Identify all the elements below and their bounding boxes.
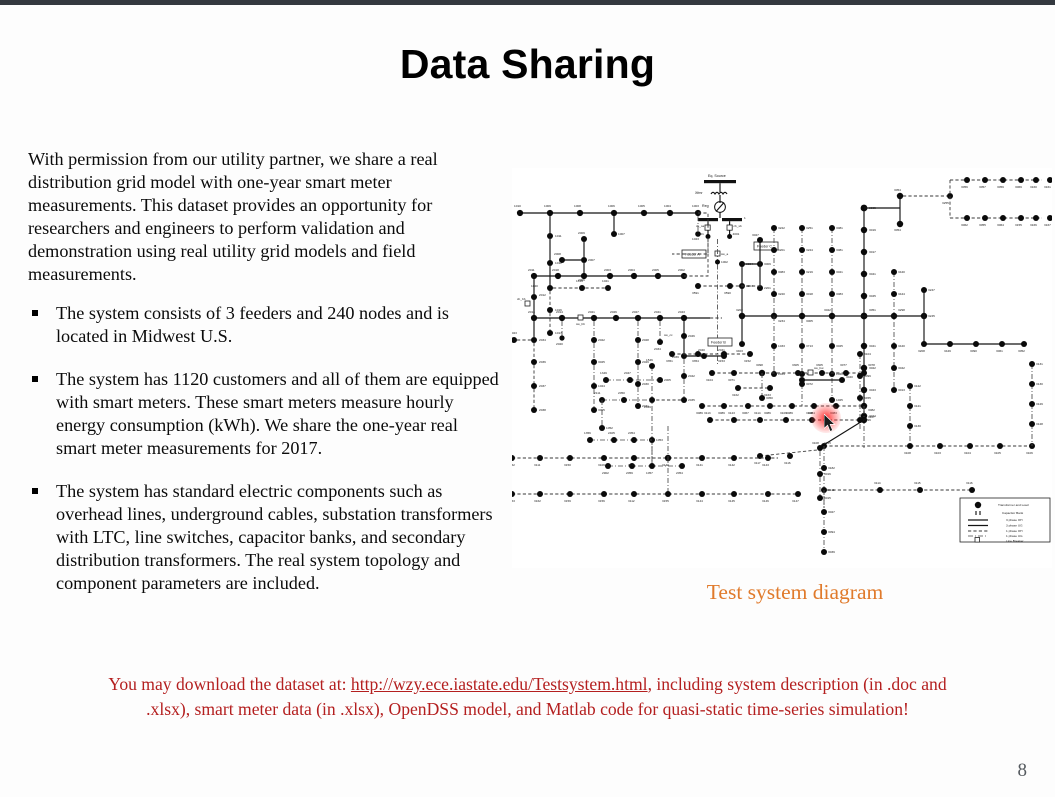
- svg-text:3016: 3016: [824, 472, 831, 476]
- svg-text:3251: 3251: [806, 226, 813, 230]
- svg-text:3094: 3094: [828, 530, 835, 534]
- svg-text:3072: 3072: [806, 382, 813, 386]
- svg-text:1033: 1033: [778, 344, 785, 348]
- svg-text:3025: 3025: [598, 360, 605, 364]
- svg-text:1010: 1010: [514, 204, 521, 208]
- svg-text:3201: 3201: [778, 248, 785, 252]
- svg-text:1025: 1025: [836, 398, 843, 402]
- svg-text:3108: 3108: [812, 441, 819, 445]
- svg-text:3150: 3150: [564, 463, 571, 467]
- svg-text:3105: 3105: [994, 451, 1001, 455]
- svg-text:3106: 3106: [1026, 451, 1033, 455]
- dataset-url-link[interactable]: http://wzy.ece.iastate.edu/Testsystem.ht…: [351, 674, 648, 694]
- svg-text:3005: 3005: [806, 319, 813, 323]
- svg-text:3090: 3090: [970, 349, 977, 353]
- svg-text:3162: 3162: [534, 499, 541, 503]
- svg-text:Line Breaker: Line Breaker: [1006, 539, 1024, 543]
- svg-text:3112: 3112: [628, 499, 635, 503]
- svg-text:3108: 3108: [904, 451, 911, 455]
- svg-text:3166: 3166: [1030, 223, 1037, 227]
- download-note: You may download the dataset at: http://…: [100, 672, 955, 722]
- svg-text:2018: 2018: [552, 268, 559, 272]
- svg-text:3019: 3019: [869, 228, 876, 232]
- svg-text:2002: 2002: [678, 268, 685, 272]
- svg-text:2028: 2028: [642, 338, 649, 342]
- svg-text:3234: 3234: [778, 319, 785, 323]
- svg-text:3027: 3027: [752, 233, 759, 237]
- svg-text:1057: 1057: [646, 471, 653, 475]
- svg-text:3043: 3043: [869, 388, 876, 392]
- svg-text:cb_sa: cb_sa: [696, 224, 705, 228]
- svg-text:Reg: Reg: [702, 204, 709, 208]
- svg-text:3022: 3022: [824, 308, 831, 312]
- svg-text:Xfmr: Xfmr: [695, 191, 703, 195]
- svg-text:2042: 2042: [688, 374, 695, 378]
- svg-text:3040: 3040: [846, 375, 853, 379]
- svg-text:3009: 3009: [764, 262, 771, 266]
- svg-text:1017: 1017: [555, 331, 562, 335]
- svg-text:3 phase OH: 3 phase OH: [1006, 518, 1023, 522]
- svg-text:3089: 3089: [786, 411, 793, 415]
- svg-text:2049: 2049: [644, 405, 651, 409]
- slide-canvas: Data Sharing With permission from our ut…: [0, 0, 1055, 797]
- list-item: The system has 1120 customers and all of…: [28, 368, 502, 460]
- svg-text:3162: 3162: [732, 393, 739, 397]
- svg-text:2004: 2004: [628, 268, 635, 272]
- svg-text:3129: 3129: [1036, 402, 1043, 406]
- svg-text:2006: 2006: [578, 278, 585, 282]
- svg-text:2041: 2041: [654, 310, 661, 314]
- svg-text:cb_bb: cb_bb: [517, 297, 526, 301]
- svg-text:cb_sb: cb_sb: [734, 224, 743, 228]
- svg-text:3059: 3059: [997, 185, 1004, 189]
- list-item-text: The system has standard electric compone…: [56, 481, 493, 593]
- svg-text:2038: 2038: [539, 408, 546, 412]
- svg-text:sw_bw: sw_bw: [814, 366, 824, 370]
- svg-text:2005: 2005: [652, 268, 659, 272]
- svg-text:2005: 2005: [664, 378, 671, 382]
- svg-text:3021: 3021: [836, 270, 843, 274]
- svg-text:3042: 3042: [898, 366, 905, 370]
- svg-text:3148: 3148: [628, 463, 635, 467]
- svg-text:3440: 3440: [898, 344, 905, 348]
- svg-text:3255: 3255: [942, 201, 949, 205]
- svg-text:1020: 1020: [531, 284, 538, 288]
- svg-text:1009: 1009: [544, 204, 551, 208]
- svg-text:3354: 3354: [692, 359, 699, 363]
- svg-text:2036: 2036: [539, 360, 546, 364]
- svg-text:3455: 3455: [864, 396, 871, 400]
- svg-text:3121: 3121: [914, 404, 921, 408]
- svg-text:2037: 2037: [539, 384, 546, 388]
- svg-text:Capacitor Bank: Capacitor Bank: [1002, 511, 1024, 515]
- svg-text:2012: 2012: [539, 293, 546, 297]
- svg-text:3591: 3591: [692, 291, 699, 295]
- test-system-diagram-image: .ln { stroke:#141414; stroke-width:1.15;…: [512, 168, 1052, 568]
- svg-text:3143: 3143: [762, 463, 769, 467]
- svg-text:3052: 3052: [1018, 349, 1025, 353]
- square-bullet-icon: [32, 488, 38, 494]
- svg-text:2027: 2027: [632, 310, 639, 314]
- svg-text:3114: 3114: [874, 481, 881, 485]
- svg-text:3144: 3144: [696, 499, 703, 503]
- svg-text:3113: 3113: [704, 411, 711, 415]
- svg-text:3054: 3054: [894, 228, 901, 232]
- svg-text:sw_a: sw_a: [721, 252, 729, 256]
- svg-text:3167: 3167: [1044, 223, 1051, 227]
- svg-text:3220: 3220: [778, 292, 785, 296]
- svg-text:1 phase OH: 1 phase OH: [1006, 529, 1023, 533]
- svg-text:1021: 1021: [602, 279, 609, 283]
- svg-text:3083: 3083: [836, 292, 843, 296]
- svg-text:3156: 3156: [598, 499, 605, 503]
- svg-text:3103: 3103: [934, 451, 941, 455]
- svg-text:1053: 1053: [656, 438, 663, 442]
- svg-text:3147: 3147: [792, 499, 799, 503]
- svg-text:3057: 3057: [979, 185, 986, 189]
- svg-text:1007: 1007: [618, 232, 625, 236]
- svg-text:1 phase UG: 1 phase UG: [1006, 534, 1023, 538]
- svg-text:3041: 3041: [869, 344, 876, 348]
- svg-text:2034: 2034: [654, 347, 661, 351]
- svg-text:3069: 3069: [1015, 185, 1022, 189]
- svg-text:2902: 2902: [602, 471, 609, 475]
- svg-text:3130: 3130: [914, 424, 921, 428]
- svg-text:1349: 1349: [600, 371, 607, 375]
- intro-paragraph: With permission from our utility partner…: [28, 148, 502, 286]
- svg-text:Feeder B: Feeder B: [711, 341, 726, 345]
- window-top-bar: [0, 0, 1055, 5]
- svg-text:2021: 2021: [588, 310, 595, 314]
- svg-text:2008: 2008: [554, 252, 561, 256]
- svg-text:3208: 3208: [918, 349, 925, 353]
- svg-text:3061: 3061: [996, 349, 1003, 353]
- svg-text:2020: 2020: [556, 342, 563, 346]
- svg-text:sw_bb: sw_bb: [576, 322, 585, 326]
- page-title: Data Sharing: [0, 41, 1055, 88]
- svg-text:3109: 3109: [780, 411, 787, 415]
- svg-text:Eq. Source: Eq. Source: [708, 174, 726, 178]
- svg-text:3131: 3131: [1036, 362, 1043, 366]
- svg-text:2014: 2014: [556, 310, 563, 314]
- svg-text:3130: 3130: [1036, 382, 1043, 386]
- svg-text:3123: 3123: [728, 411, 735, 415]
- svg-text:1003: 1003: [692, 204, 699, 208]
- svg-text:1005: 1005: [638, 204, 645, 208]
- svg-text:3062: 3062: [961, 223, 968, 227]
- svg-text:3017: 3017: [869, 250, 876, 254]
- svg-text:2111: 2111: [594, 391, 601, 395]
- svg-text:3055: 3055: [979, 223, 986, 227]
- svg-text:3116: 3116: [966, 481, 973, 485]
- svg-text:3077: 3077: [840, 363, 847, 367]
- svg-text:3104: 3104: [964, 451, 971, 455]
- svg-text:1546: 1546: [646, 358, 653, 362]
- svg-text:2047: 2047: [624, 371, 631, 375]
- list-item: The system consists of 3 feeders and 240…: [28, 302, 502, 348]
- svg-text:2009: 2009: [578, 231, 585, 235]
- svg-text:3099: 3099: [864, 374, 871, 378]
- svg-text:3067: 3067: [742, 411, 749, 415]
- svg-text:3142: 3142: [728, 463, 735, 467]
- svg-text:3109: 3109: [598, 463, 605, 467]
- svg-text:3104: 3104: [706, 378, 713, 382]
- svg-text:3015: 3015: [824, 496, 831, 500]
- svg-text:3146: 3146: [762, 499, 769, 503]
- svg-text:3064: 3064: [997, 223, 1004, 227]
- svg-text:2007: 2007: [588, 258, 595, 262]
- list-item-text: The system consists of 3 feeders and 240…: [56, 303, 449, 346]
- svg-text:3305: 3305: [792, 363, 799, 367]
- list-item: The system has standard electric compone…: [28, 480, 502, 595]
- download-note-lead: You may download the dataset at:: [108, 674, 346, 694]
- svg-text:3116: 3116: [784, 461, 791, 465]
- svg-text:3045: 3045: [869, 294, 876, 298]
- svg-text:3027: 3027: [828, 510, 835, 514]
- svg-text:3051: 3051: [869, 308, 876, 312]
- svg-text:3153: 3153: [718, 359, 725, 363]
- svg-text:2022: 2022: [598, 338, 605, 342]
- square-bullet-icon: [32, 376, 38, 382]
- svg-text:3155: 3155: [1015, 223, 1022, 227]
- svg-text:1023: 1023: [692, 237, 699, 241]
- svg-text:3115: 3115: [914, 481, 921, 485]
- svg-text:3122: 3122: [914, 384, 921, 388]
- square-bullet-icon: [32, 310, 38, 316]
- svg-text:2034: 2034: [539, 338, 546, 342]
- svg-text:Feeder A: Feeder A: [685, 253, 700, 257]
- svg-text:3141: 3141: [696, 463, 703, 467]
- figure-caption: Test system diagram: [600, 580, 990, 605]
- svg-text:2003: 2003: [604, 268, 611, 272]
- svg-text:3298: 3298: [898, 308, 905, 312]
- svg-text:1: 1: [744, 216, 746, 220]
- svg-text:3159: 3159: [564, 499, 571, 503]
- svg-text:3163: 3163: [512, 499, 515, 503]
- svg-text:1356: 1356: [584, 431, 591, 435]
- svg-text:2059: 2059: [626, 471, 633, 475]
- svg-text:2026: 2026: [610, 310, 617, 314]
- svg-text:3104: 3104: [864, 352, 871, 356]
- svg-text:1011: 1011: [555, 234, 562, 238]
- svg-text:3449: 3449: [944, 349, 951, 353]
- svg-text:3160: 3160: [1030, 185, 1037, 189]
- svg-text:3083: 3083: [830, 411, 837, 415]
- svg-text:3152: 3152: [744, 359, 751, 363]
- svg-text:3145: 3145: [728, 499, 735, 503]
- svg-text:3182: 3182: [828, 466, 835, 470]
- svg-text:3590: 3590: [724, 291, 731, 295]
- svg-text:3078: 3078: [868, 363, 875, 367]
- svg-text:3155: 3155: [662, 499, 669, 503]
- content-column: With permission from our utility partner…: [28, 148, 502, 615]
- svg-text:3081: 3081: [836, 248, 843, 252]
- svg-text:3219: 3219: [806, 270, 813, 274]
- svg-text:2054: 2054: [628, 431, 635, 435]
- svg-text:3083: 3083: [778, 270, 785, 274]
- svg-text:3056: 3056: [961, 185, 968, 189]
- svg-text:3086: 3086: [764, 411, 771, 415]
- svg-text:3163: 3163: [764, 393, 771, 397]
- svg-text:2050: 2050: [618, 391, 625, 395]
- svg-text:3152: 3152: [512, 463, 515, 467]
- svg-text:3713: 3713: [806, 344, 813, 348]
- svg-text:2023: 2023: [512, 331, 517, 335]
- svg-text:3128: 3128: [1036, 422, 1043, 426]
- svg-text:3054: 3054: [894, 188, 901, 192]
- svg-text:2035: 2035: [688, 398, 695, 402]
- svg-text:3118: 3118: [806, 411, 813, 415]
- svg-text:Feeder C: Feeder C: [757, 245, 772, 249]
- svg-text:3071: 3071: [728, 378, 735, 382]
- svg-text:3245: 3245: [928, 314, 935, 318]
- svg-text:3161: 3161: [1044, 185, 1051, 189]
- svg-text:Transformer and Load: Transformer and Load: [998, 503, 1029, 507]
- svg-text:2054: 2054: [676, 471, 683, 475]
- svg-text:3018: 3018: [806, 292, 813, 296]
- svg-text:3247: 3247: [928, 288, 935, 292]
- svg-text:3 phase UG: 3 phase UG: [1006, 524, 1023, 528]
- svg-text:3117: 3117: [754, 461, 761, 465]
- svg-text:2043: 2043: [678, 310, 685, 314]
- svg-text:3444: 3444: [898, 292, 905, 296]
- list-item-text: The system has 1120 customers and all of…: [56, 369, 499, 458]
- svg-text:3224: 3224: [806, 248, 813, 252]
- svg-text:3098: 3098: [756, 363, 763, 367]
- svg-text:1006: 1006: [608, 204, 615, 208]
- svg-text:sw_cc: sw_cc: [664, 333, 673, 337]
- svg-text:1004: 1004: [664, 204, 671, 208]
- svg-text:2011: 2011: [528, 268, 535, 272]
- svg-text:3081: 3081: [836, 226, 843, 230]
- svg-text:2030: 2030: [642, 382, 649, 386]
- page-number: 8: [1018, 760, 1028, 782]
- svg-text:3013: 3013: [898, 388, 905, 392]
- svg-text:3082: 3082: [868, 408, 875, 412]
- svg-text:3089: 3089: [696, 411, 703, 415]
- svg-text:3111: 3111: [534, 463, 541, 467]
- svg-text:4001: 4001: [733, 232, 740, 236]
- svg-text:2201: 2201: [764, 286, 771, 290]
- svg-text:1024: 1024: [598, 384, 605, 388]
- svg-text:3440: 3440: [898, 270, 905, 274]
- svg-text:3096: 3096: [864, 418, 871, 422]
- svg-text:3222: 3222: [778, 226, 785, 230]
- svg-text:1002: 1002: [721, 260, 728, 264]
- svg-text:3041: 3041: [869, 272, 876, 276]
- svg-text:1008: 1008: [574, 204, 581, 208]
- svg-text:3089: 3089: [718, 411, 725, 415]
- bullet-list: The system consists of 3 feeders and 240…: [28, 302, 502, 595]
- svg-text:3351: 3351: [666, 359, 673, 363]
- svg-text:2046: 2046: [688, 334, 695, 338]
- svg-text:1052: 1052: [606, 426, 613, 430]
- svg-text:2405: 2405: [608, 431, 615, 435]
- svg-text:3114: 3114: [754, 411, 761, 415]
- svg-text:3403: 3403: [736, 349, 743, 353]
- svg-text:3025: 3025: [836, 344, 843, 348]
- svg-text:3039: 3039: [828, 550, 835, 554]
